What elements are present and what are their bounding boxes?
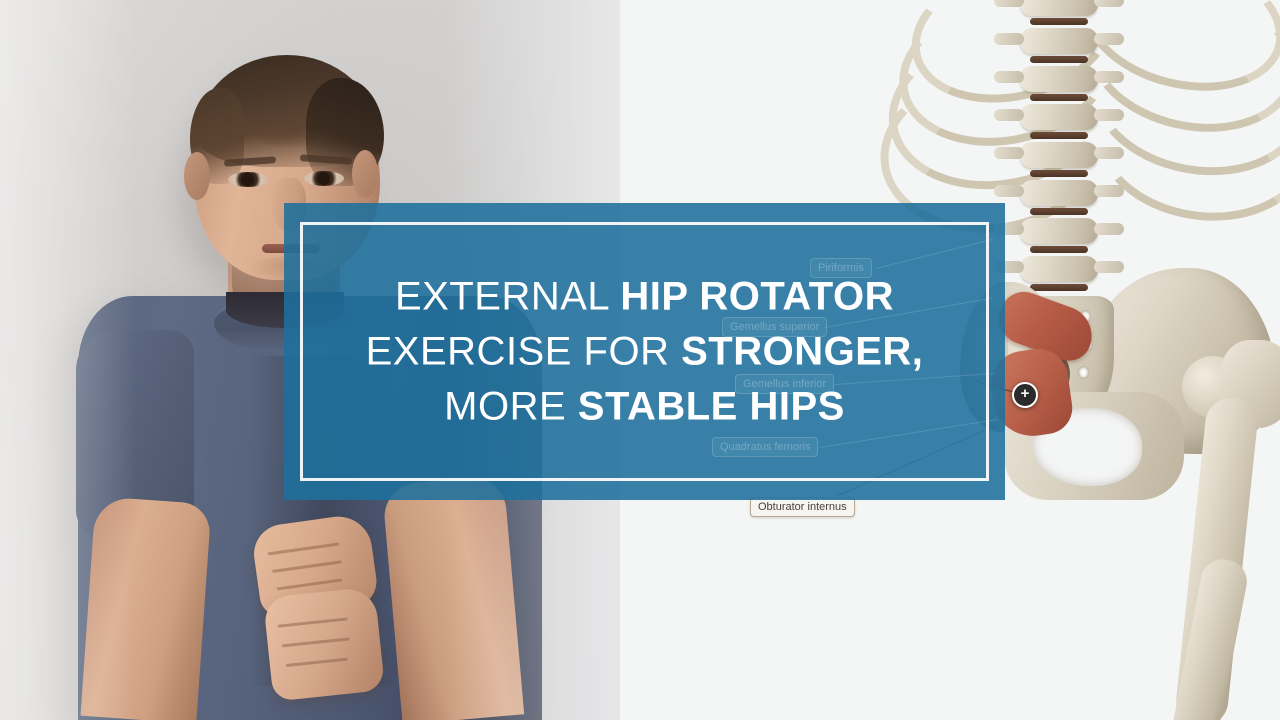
femur-shaft-lower xyxy=(1167,556,1250,720)
title-line-1: EXTERNAL HIP ROTATOR xyxy=(284,269,1005,324)
title-line-3-normal: MORE xyxy=(444,384,578,428)
title-line-1-normal: EXTERNAL xyxy=(395,274,620,318)
lumbar-spine xyxy=(1020,0,1098,320)
pin-marker-icon[interactable]: + xyxy=(1012,382,1038,408)
title-line-3: MORE STABLE HIPS xyxy=(284,379,1005,434)
title-line-2: EXERCISE FOR STRONGER, xyxy=(284,324,1005,379)
video-thumbnail: − + + Obturator internus + EXTERNAL HIP … xyxy=(0,0,1280,720)
ghost-label-quadratus-femoris: Quadratus femoris xyxy=(712,437,818,457)
ghost-label-piriformis: Piriformis xyxy=(810,258,872,278)
title-line-2-normal: EXERCISE FOR xyxy=(366,329,681,373)
label-obturator-internus[interactable]: Obturator internus xyxy=(750,497,855,517)
title-line-1-bold: HIP ROTATOR xyxy=(620,274,894,318)
title-text-block: EXTERNAL HIP ROTATOR EXERCISE FOR STRONG… xyxy=(284,269,1005,434)
ghost-label-gemellus-superior: Gemellus superior xyxy=(722,317,827,337)
title-overlay-panel: EXTERNAL HIP ROTATOR EXERCISE FOR STRONG… xyxy=(284,203,1005,500)
ghost-label-gemellus-inferior: Gemellus inferior xyxy=(735,374,834,394)
